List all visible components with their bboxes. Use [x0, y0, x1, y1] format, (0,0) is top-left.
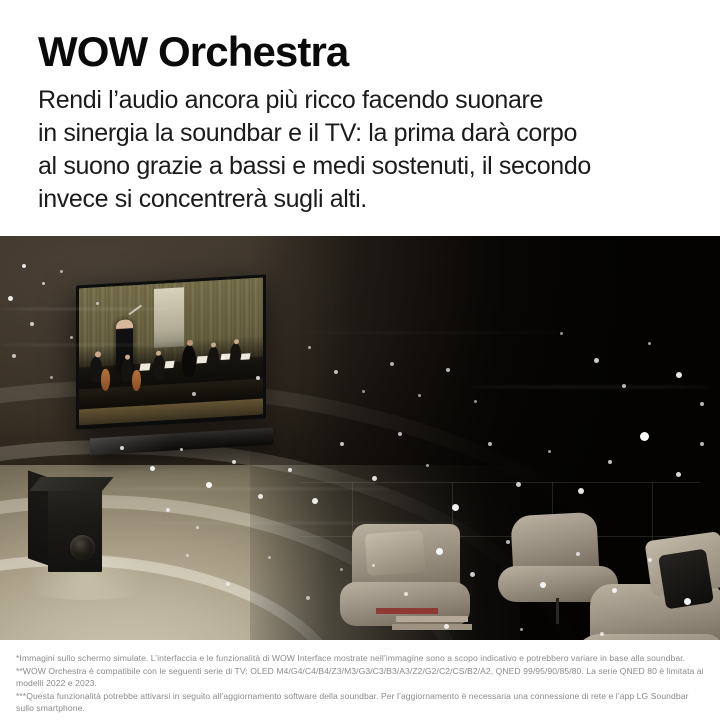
light-particle	[372, 476, 377, 481]
light-particle	[474, 400, 477, 403]
light-particle	[70, 336, 73, 339]
light-particle	[612, 588, 617, 593]
musician-figure	[208, 346, 219, 371]
light-particle	[334, 370, 338, 374]
light-particle	[226, 582, 230, 586]
particle-trail	[110, 488, 390, 490]
light-particle	[30, 322, 34, 326]
book-stack	[396, 616, 468, 622]
light-particle	[470, 572, 475, 577]
book-stack-red	[376, 608, 438, 614]
light-particle	[560, 332, 563, 335]
light-particle	[288, 468, 292, 472]
particle-trail	[300, 332, 560, 333]
light-particle	[362, 390, 365, 393]
light-particle	[398, 432, 402, 436]
light-particle	[268, 556, 271, 559]
light-particle	[444, 624, 449, 629]
light-particle	[166, 508, 170, 512]
light-particle	[640, 432, 649, 441]
light-particle	[312, 498, 318, 504]
light-particle	[426, 464, 429, 467]
light-particle	[436, 548, 443, 555]
particle-trail	[0, 308, 170, 310]
light-particle	[22, 264, 26, 268]
page-root: WOW Orchestra Rendi l’audio ancora più r…	[0, 0, 720, 720]
light-particle	[340, 568, 343, 571]
light-particle	[506, 540, 510, 544]
light-particle	[42, 282, 45, 285]
light-particle	[578, 488, 584, 494]
light-particle	[8, 296, 13, 301]
light-particle	[12, 354, 16, 358]
light-particle	[684, 598, 691, 605]
musician-figure	[230, 343, 241, 368]
light-particle	[418, 394, 421, 397]
light-particle	[306, 596, 310, 600]
light-particle	[404, 592, 408, 596]
light-particle	[548, 450, 551, 453]
armchair-center-leg	[556, 598, 559, 624]
partition-line	[652, 482, 653, 544]
particle-trail	[470, 386, 710, 388]
footnote-1: *Immagini sullo schermo simulate. L’inte…	[16, 652, 708, 665]
light-particle	[232, 460, 236, 464]
light-particle	[648, 558, 652, 562]
light-particle	[180, 448, 183, 451]
light-particle	[608, 460, 612, 464]
light-particle	[258, 494, 263, 499]
light-particle	[256, 376, 260, 380]
musician-head	[125, 354, 130, 359]
footnote-block: *Immagini sullo schermo simulate. L’inte…	[16, 652, 708, 715]
light-particle	[192, 392, 196, 396]
musician-figure	[121, 358, 132, 383]
subtitle-line-1: Rendi l’audio ancora più ricco facendo s…	[38, 84, 698, 117]
musician-figure	[153, 355, 165, 381]
light-particle	[50, 376, 53, 379]
light-particle	[308, 346, 311, 349]
light-particle	[196, 526, 199, 529]
light-particle	[676, 372, 682, 378]
light-particle	[390, 362, 394, 366]
light-particle	[600, 632, 604, 636]
light-particle	[540, 582, 546, 588]
light-particle	[520, 628, 523, 631]
light-particle	[150, 466, 155, 471]
footnote-3: ***Questa funzionalità potrebbe attivars…	[16, 690, 708, 715]
light-particle	[60, 270, 63, 273]
armchair-left-cushion	[365, 530, 426, 576]
subwoofer	[28, 478, 102, 572]
header-block: WOW Orchestra Rendi l’audio ancora più r…	[38, 26, 698, 216]
light-particle	[700, 442, 704, 446]
subwoofer-bass-port	[70, 535, 95, 560]
book-stack	[392, 624, 472, 630]
hero-image	[0, 236, 720, 640]
armchair-right-seat	[574, 634, 720, 640]
particle-trail	[0, 344, 200, 346]
light-particle	[446, 368, 450, 372]
light-particle	[594, 358, 599, 363]
subtitle-line-2: in sinergia la soundbar e il TV: la prim…	[38, 117, 698, 150]
sheet-music	[196, 356, 207, 364]
partition-line	[300, 482, 700, 483]
tv-screen	[79, 278, 263, 426]
light-particle	[676, 472, 681, 477]
light-particle	[488, 442, 492, 446]
light-particle	[648, 342, 651, 345]
light-particle	[96, 302, 99, 305]
sheet-music	[240, 354, 250, 361]
sheet-music	[139, 364, 150, 372]
light-particle	[516, 482, 521, 487]
subtitle-line-3: al suono grazie a bassi e medi sostenuti…	[38, 150, 698, 183]
light-particle	[700, 402, 704, 406]
subwoofer-top-panel	[29, 477, 114, 491]
light-particle	[372, 564, 375, 567]
particle-trail	[150, 522, 470, 524]
light-particle	[186, 554, 189, 557]
footnote-2: **WOW Orchestra è compatibile con le seg…	[16, 665, 708, 690]
light-particle	[222, 356, 225, 359]
hall-doorway	[154, 287, 183, 348]
musician-figure	[182, 345, 196, 378]
subwoofer-front-panel	[48, 489, 102, 572]
subtitle-line-4: invece si concentrerà sugli alti.	[38, 183, 698, 216]
wall-mounted-tv	[76, 274, 266, 429]
light-particle	[576, 552, 580, 556]
light-particle	[340, 442, 344, 446]
page-title: WOW Orchestra	[38, 26, 698, 78]
page-subtitle: Rendi l’audio ancora più ricco facendo s…	[38, 84, 698, 216]
light-particle	[452, 504, 459, 511]
light-particle	[120, 446, 124, 450]
